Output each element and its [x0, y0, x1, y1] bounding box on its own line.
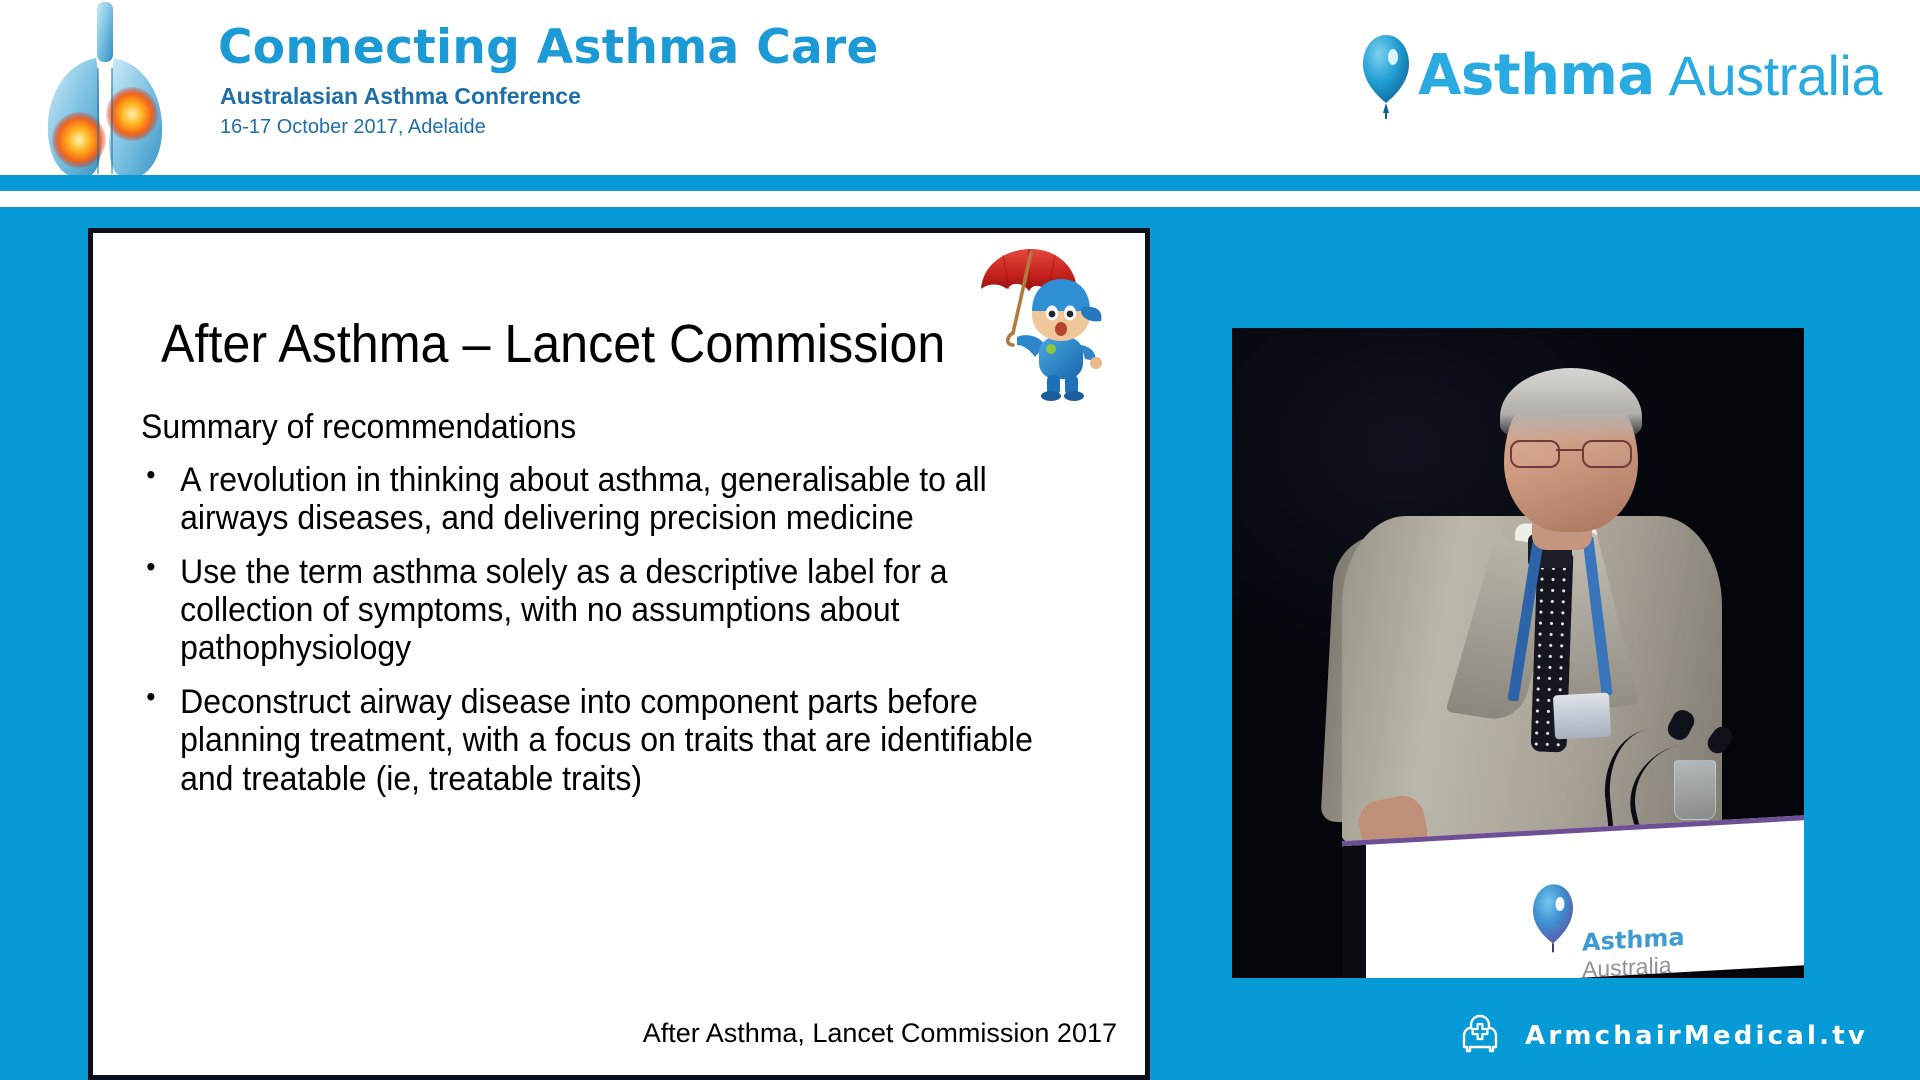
- conference-subtitle: Australasian Asthma Conference: [220, 83, 879, 110]
- glasses-lens-right: [1582, 440, 1632, 468]
- recommendations-list: A revolution in thinking about asthma, g…: [135, 461, 1115, 798]
- list-item: Deconstruct airway disease into componen…: [135, 683, 1056, 797]
- slide-body: Summary of recommendations A revolution …: [135, 408, 1115, 814]
- speaker-video[interactable]: Asthma Australia: [1232, 328, 1804, 978]
- list-item: A revolution in thinking about asthma, g…: [135, 461, 1056, 537]
- slide-subheading: Summary of recommendations: [141, 408, 1057, 447]
- speaker-glasses-icon: [1508, 440, 1634, 466]
- armchair-medical-branding[interactable]: ArmchairMedical.tv: [1457, 1010, 1868, 1062]
- pocoyo-with-umbrella-icon: [973, 241, 1128, 401]
- org-name-light: Australia: [1669, 48, 1882, 104]
- header-divider-stripe: [0, 175, 1920, 191]
- conference-title: Connecting Asthma Care: [218, 24, 879, 71]
- header-divider-gap: [0, 191, 1920, 207]
- podium-left-shadow: [1342, 845, 1366, 978]
- list-item: Use the term asthma solely as a descript…: [135, 553, 1056, 667]
- slide-title: After Asthma – Lancet Commission: [161, 313, 945, 375]
- slide-viewer-page: Connecting Asthma Care Australasian Asth…: [0, 0, 1920, 1080]
- podium-balloon-icon: [1530, 881, 1576, 958]
- presentation-slide[interactable]: After Asthma – Lancet Commission: [88, 228, 1150, 1080]
- brand-label: ArmchairMedical.tv: [1525, 1021, 1868, 1051]
- balloon-icon: [1360, 33, 1412, 119]
- glasses-lens-left: [1510, 440, 1560, 468]
- water-glass: [1674, 760, 1716, 820]
- conference-date-location: 16-17 October 2017, Adelaide: [220, 116, 879, 139]
- speaker-name-badge: [1553, 693, 1611, 740]
- glasses-bridge: [1556, 449, 1582, 451]
- podium-panel: Asthma Australia: [1342, 815, 1804, 978]
- armchair-medical-cross-icon: [1457, 1013, 1503, 1059]
- inflamed-lungs-icon: [24, 0, 184, 175]
- asthma-australia-logo: Asthma Australia: [1360, 28, 1882, 124]
- org-name-bold: Asthma: [1418, 48, 1654, 104]
- conference-header: Connecting Asthma Care Australasian Asth…: [0, 0, 1920, 175]
- conference-title-block: Connecting Asthma Care Australasian Asth…: [218, 24, 879, 139]
- slide-citation: After Asthma, Lancet Commission 2017: [93, 1018, 1117, 1049]
